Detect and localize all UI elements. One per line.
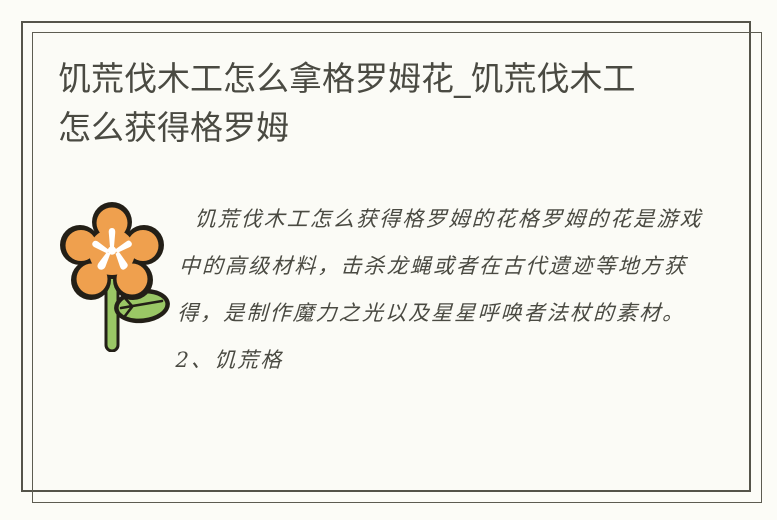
article-content: 饥荒伐木工怎么拿格罗姆花_饥荒伐木工怎么获得格罗姆	[30, 30, 742, 483]
screenshot-canvas: 饥荒伐木工怎么拿格罗姆花_饥荒伐木工怎么获得格罗姆	[0, 0, 777, 520]
article-body-block: 饥荒伐木工怎么获得格罗姆的花格罗姆的花是游戏中的高级材料，击杀龙蝇或者在古代遗迹…	[54, 196, 714, 384]
flower-illustration	[54, 196, 178, 352]
article-body-text: 饥荒伐木工怎么获得格罗姆的花格罗姆的花是游戏中的高级材料，击杀龙蝇或者在古代遗迹…	[175, 196, 718, 384]
page-title: 饥荒伐木工怎么拿格罗姆花_饥荒伐木工怎么获得格罗姆	[58, 54, 658, 152]
